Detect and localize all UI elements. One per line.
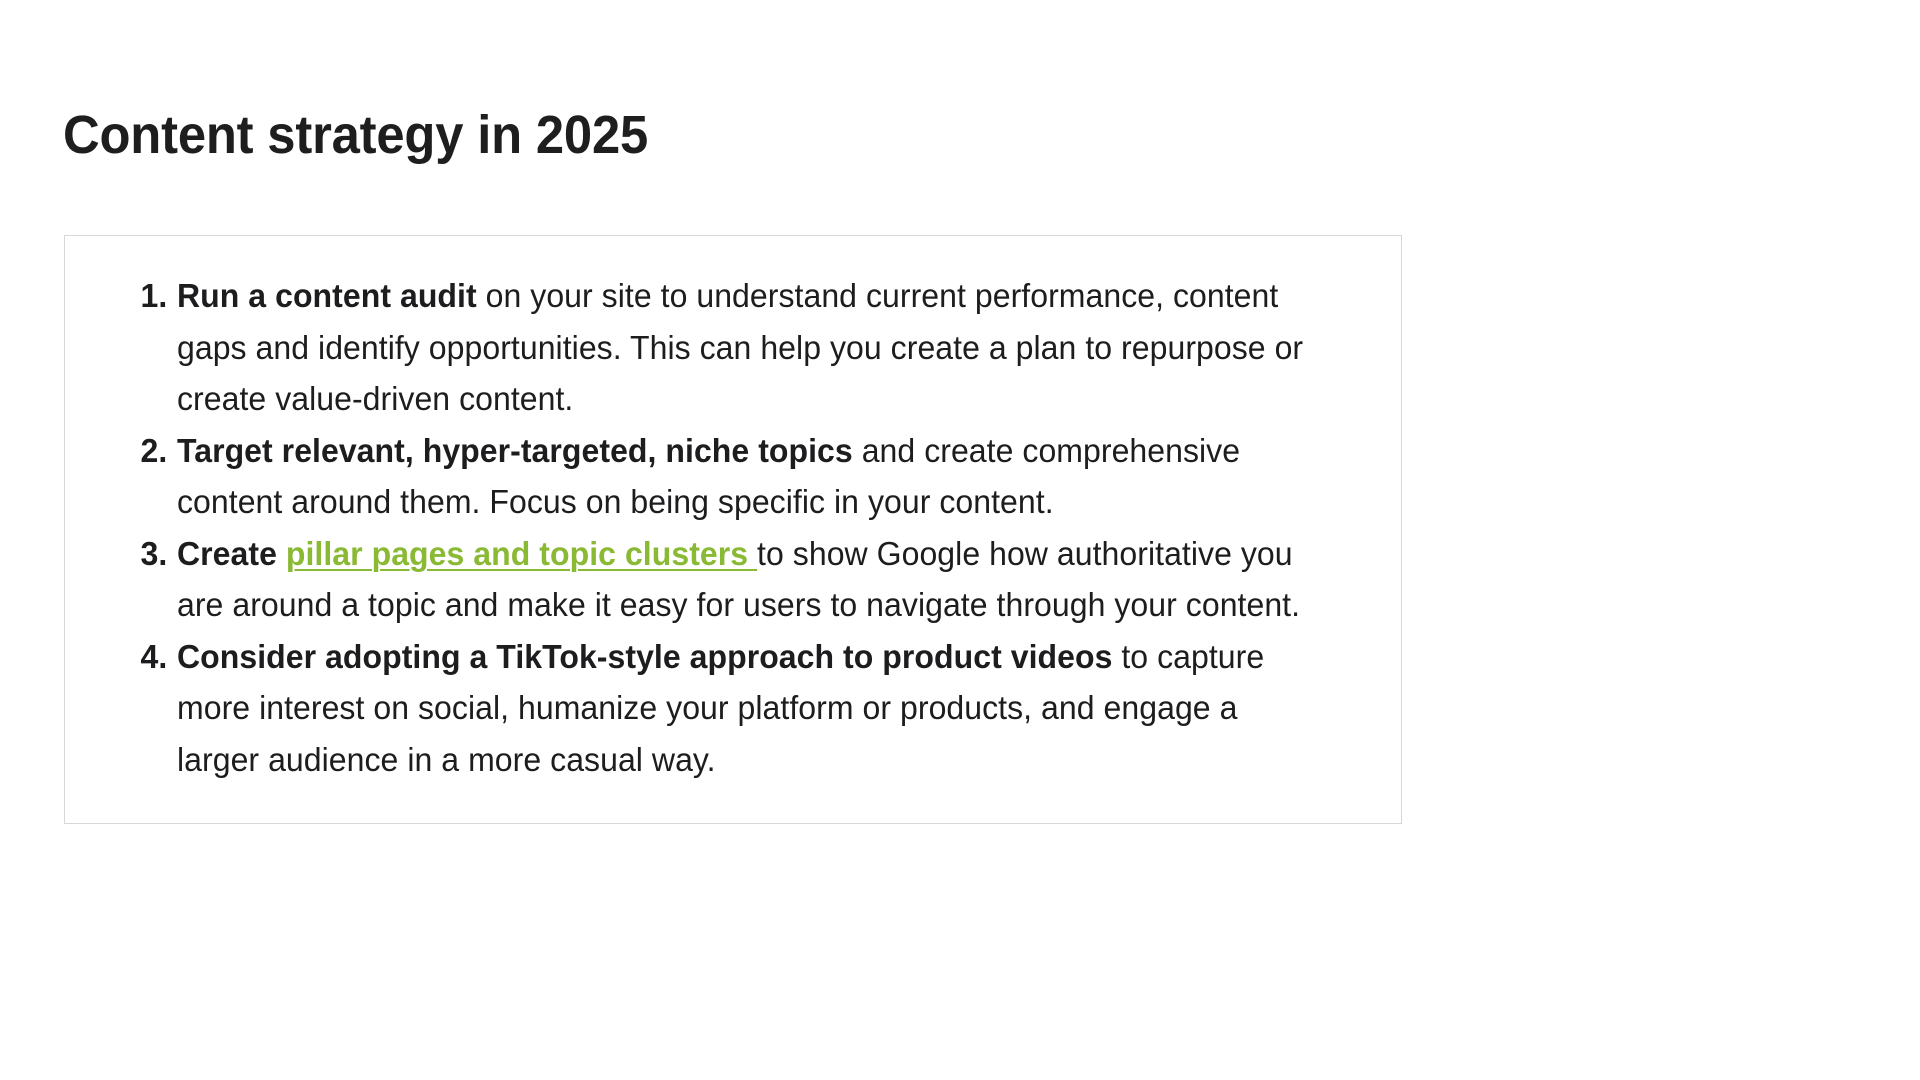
list-item: Run a content audit on your site to unde… bbox=[177, 270, 1325, 425]
strategy-list: Run a content audit on your site to unde… bbox=[105, 270, 1361, 785]
list-item: Target relevant, hyper-targeted, niche t… bbox=[177, 425, 1325, 528]
list-item: Create pillar pages and topic clusters t… bbox=[177, 528, 1325, 631]
list-item-lead: Create bbox=[177, 535, 286, 572]
pillar-pages-topic-clusters-link[interactable]: pillar pages and topic clusters bbox=[286, 535, 757, 572]
page-title: Content strategy in 2025 bbox=[63, 104, 648, 166]
list-item-lead: Run a content audit bbox=[177, 277, 477, 314]
content-card: Run a content audit on your site to unde… bbox=[64, 235, 1402, 824]
page-root: Content strategy in 2025 Run a content a… bbox=[0, 0, 1920, 1080]
list-item-lead: Consider adopting a TikTok-style approac… bbox=[177, 638, 1112, 675]
list-item: Consider adopting a TikTok-style approac… bbox=[177, 631, 1325, 786]
list-item-lead: Target relevant, hyper-targeted, niche t… bbox=[177, 432, 853, 469]
